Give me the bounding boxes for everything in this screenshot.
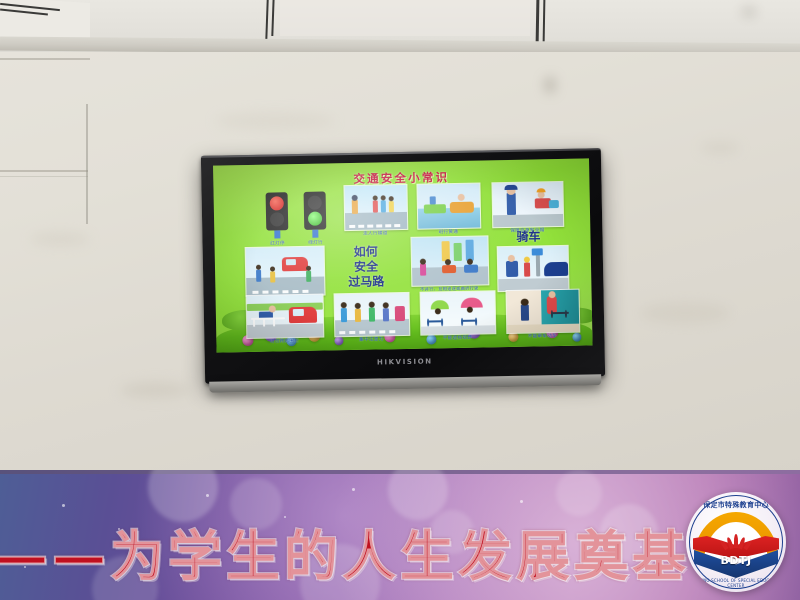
how-line-3: 过马路	[333, 274, 399, 290]
picture-safety-helmet	[491, 181, 564, 228]
caption-pedestrian-crossing: 走人行横道	[344, 230, 406, 237]
picture-pedestrian-crossing	[343, 184, 408, 231]
school-logo: 保定市特殊教育中心 BDTJ BAODING SCHOOL OF SPECIAL…	[686, 492, 786, 592]
ride-line-1: 骑车	[500, 229, 556, 245]
banner-slogan: ——为学生的人生发展奠基	[0, 512, 654, 591]
logo-chinese-name: 保定市特殊教育中心	[686, 500, 786, 510]
big-text-ride-bike: 骑车	[500, 229, 556, 245]
picture-look-both-ways	[245, 246, 326, 298]
logo-acronym: BDTJ	[686, 554, 786, 567]
logo-english-name: BAODING SCHOOL OF SPECIAL EDUCATION CENT…	[686, 578, 786, 588]
picture-no-parallel-riding	[410, 235, 489, 286]
big-text-how-to-cross: 如何 安全 过马路	[333, 244, 400, 290]
photo-scene: 交通安全小常识	[0, 0, 800, 600]
picture-stay-focused	[334, 292, 411, 337]
picture-slow-yellow-light	[416, 182, 481, 229]
display-monitor[interactable]: 交通安全小常识	[201, 148, 605, 384]
picture-dismount-danger-road	[497, 245, 570, 292]
picture-no-blocking-view	[419, 290, 496, 335]
picture-no-climbing-fence	[246, 294, 325, 339]
picture-no-towing	[505, 289, 580, 334]
caption-slow-yellow-light: 斑行黄通	[417, 229, 479, 236]
how-line-2: 安全	[333, 259, 399, 275]
how-line-1: 如何	[333, 244, 399, 260]
screen[interactable]: 交通安全小常识	[213, 158, 593, 352]
